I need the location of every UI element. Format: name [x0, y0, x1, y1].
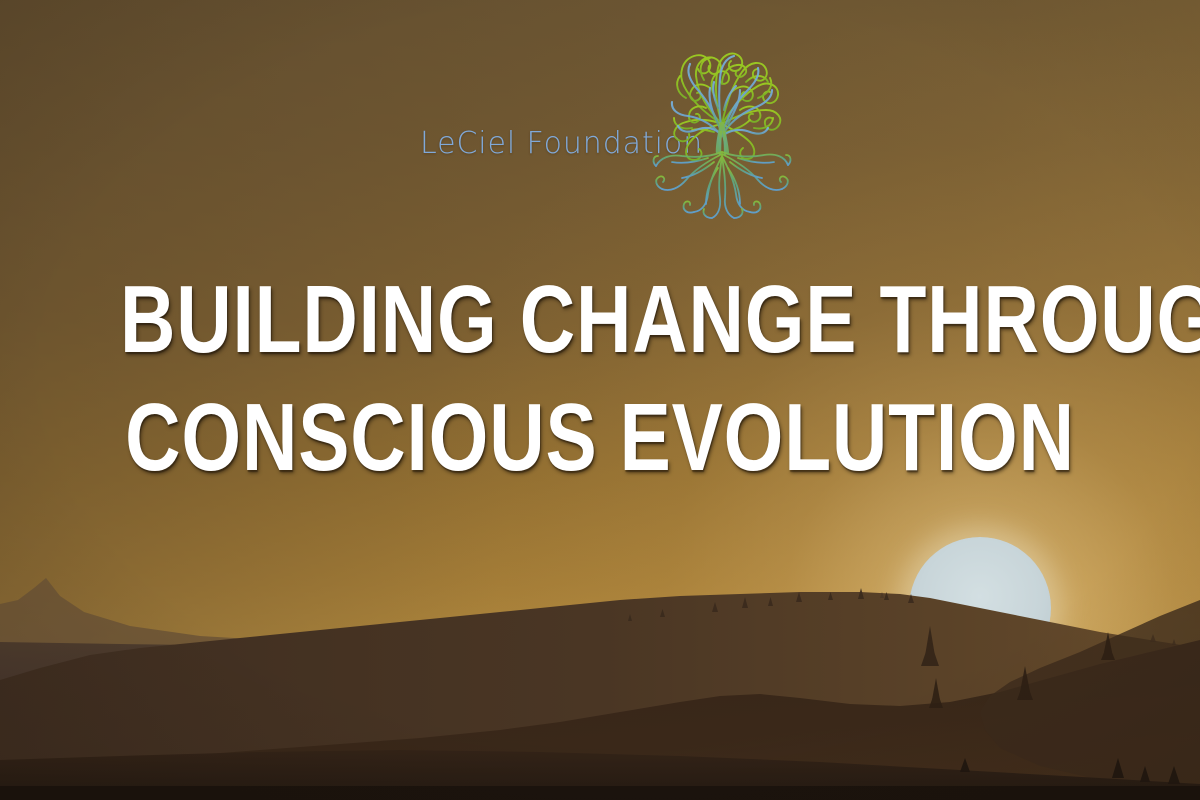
tree-of-life-icon: [652, 28, 792, 220]
brand-logo[interactable]: LeCiel Foundation: [415, 28, 785, 220]
bottom-shadow-strip: [0, 786, 1200, 800]
hero-banner: LeCiel Foundation: [0, 0, 1200, 800]
